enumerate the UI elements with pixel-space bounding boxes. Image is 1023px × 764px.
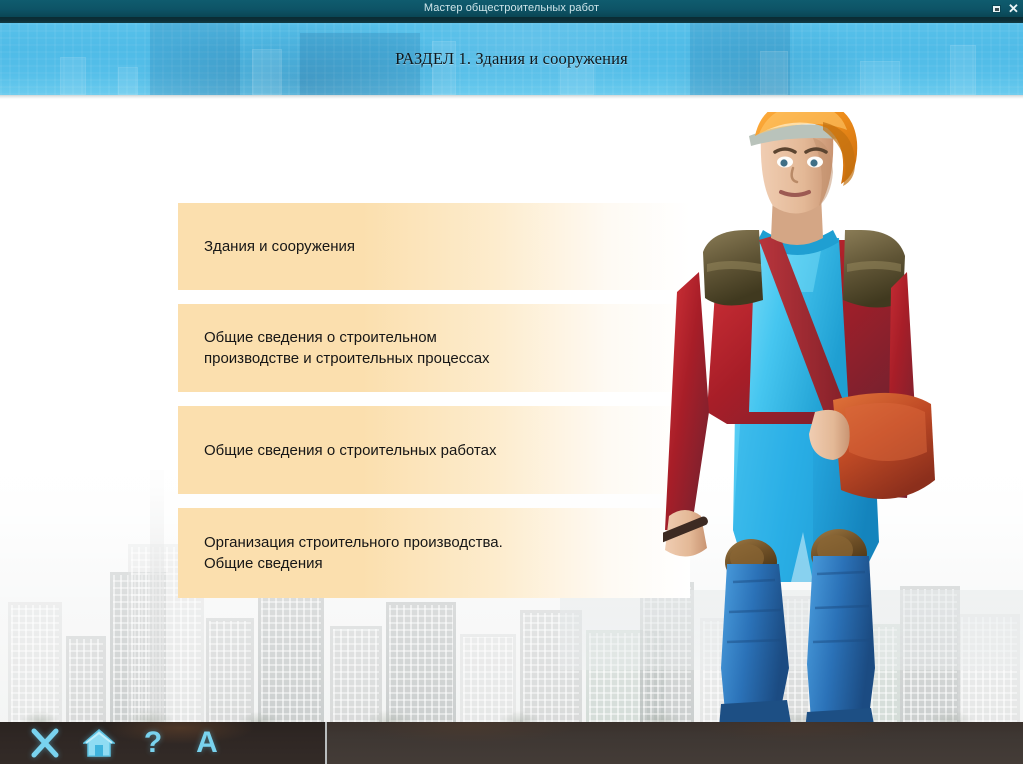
help-glyph: ? [144, 728, 162, 758]
titlebar-shadow [0, 17, 1023, 23]
menu-item-1-label: Здания и сооружения [204, 236, 355, 257]
menu-item-3[interactable]: Общие сведения о строительных работах [178, 406, 690, 494]
construction-worker-illustration [663, 112, 953, 730]
menu-item-4[interactable]: Организация строительного производства. … [178, 508, 690, 598]
header-bottom-edge [0, 95, 1023, 99]
window-titlebar: Мастер общестроительных работ ✕ [0, 0, 1023, 17]
section-header-band: РАЗДЕЛ 1. Здания и сооружения [0, 23, 1023, 95]
menu-item-2-label: Общие сведения о строительном производст… [204, 327, 490, 369]
section-title: РАЗДЕЛ 1. Здания и сооружения [0, 23, 1023, 95]
menu-item-2[interactable]: Общие сведения о строительном производст… [178, 304, 690, 392]
bottom-toolbar: ? A [0, 722, 1023, 764]
menu-item-4-label: Организация строительного производства. … [204, 532, 503, 574]
restore-icon [992, 5, 1001, 13]
toolbar-icon-group: ? A [28, 722, 224, 764]
application-window: Мастер общестроительных работ ✕ РАЗДЕЛ 1… [0, 0, 1023, 764]
menu-item-3-label: Общие сведения о строительных работах [204, 440, 496, 461]
close-button[interactable]: ✕ [1006, 2, 1021, 16]
window-title: Мастер общестроительных работ [0, 0, 1023, 17]
section-menu: Здания и сооружения Общие сведения о стр… [178, 203, 690, 598]
menu-item-1[interactable]: Здания и сооружения [178, 203, 690, 290]
close-icon: ✕ [1008, 2, 1019, 15]
home-icon[interactable] [82, 726, 116, 760]
exit-icon[interactable] [28, 726, 62, 760]
restore-button[interactable] [989, 2, 1004, 16]
font-glyph: A [196, 728, 218, 758]
window-controls: ✕ [989, 1, 1021, 16]
font-icon[interactable]: A [190, 726, 224, 760]
help-icon[interactable]: ? [136, 726, 170, 760]
